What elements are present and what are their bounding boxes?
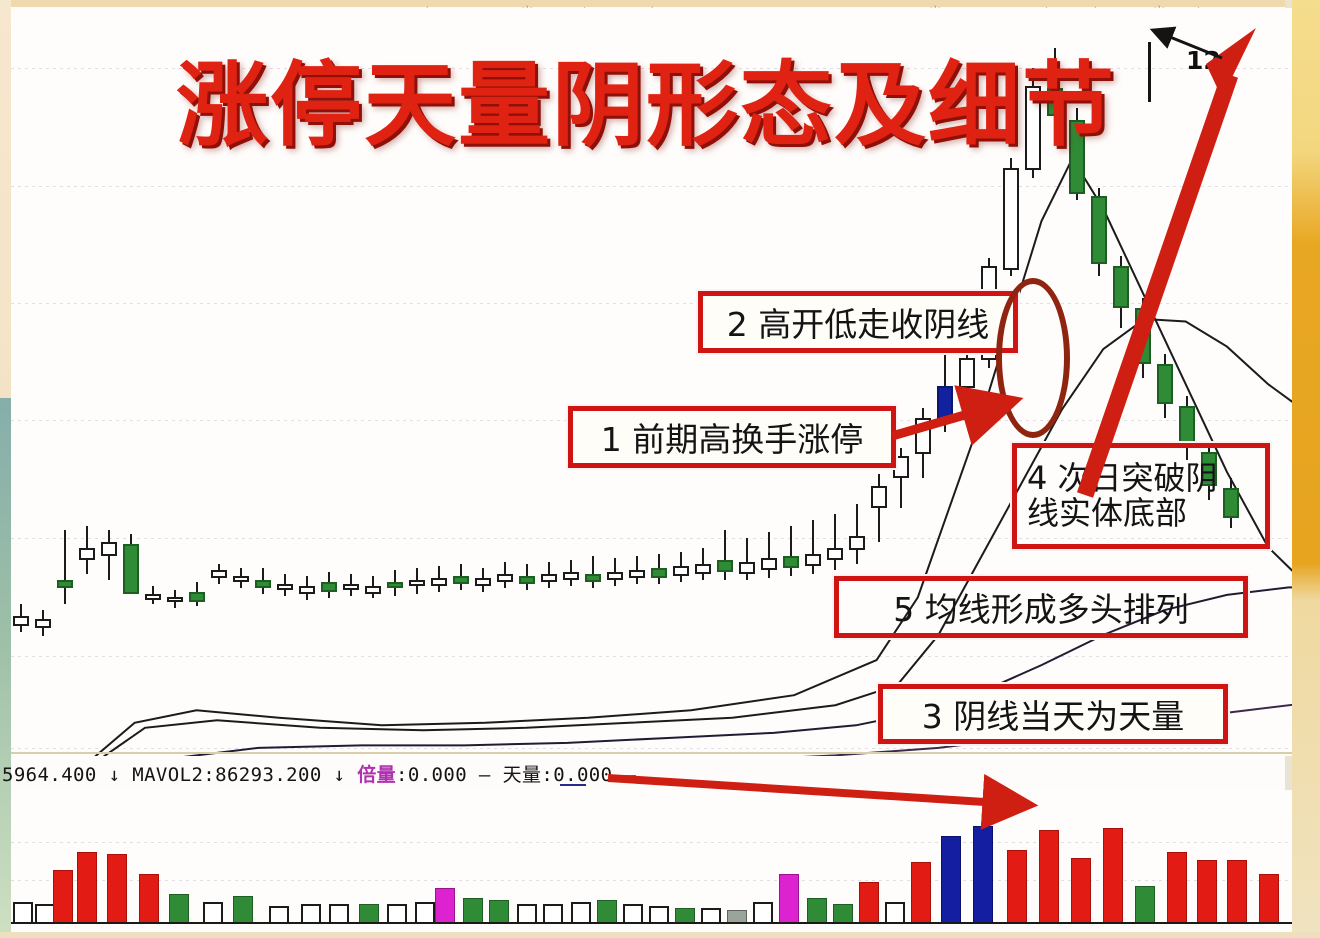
candle-body xyxy=(255,580,271,588)
candle-body xyxy=(805,554,821,566)
candle-wick xyxy=(768,532,770,578)
status-dash-1: – xyxy=(479,764,491,786)
candle-body xyxy=(585,574,601,582)
page-border-left-top xyxy=(0,0,11,398)
candle-body xyxy=(409,580,425,586)
volume-bar xyxy=(169,894,189,924)
status-tianliang-label: 天量 xyxy=(503,764,542,786)
volume-bar xyxy=(489,900,509,924)
annotation-box-1[interactable]: 1 前期高换手涨停 xyxy=(568,406,896,468)
volume-bar xyxy=(1259,874,1279,924)
candle-body xyxy=(871,486,887,508)
candlestick xyxy=(79,8,95,756)
candlestick xyxy=(1157,8,1173,756)
candle-body xyxy=(673,566,689,576)
candle-body xyxy=(607,572,623,580)
status-arrow-down-2-icon: ↓ xyxy=(334,764,346,786)
volume-bar xyxy=(807,898,827,924)
volume-bar xyxy=(1197,860,1217,924)
status-arrow-down-1-icon: ↓ xyxy=(109,764,121,786)
candle-body xyxy=(761,558,777,570)
candle-body xyxy=(343,584,359,590)
candle-body xyxy=(123,544,139,594)
volume-bar xyxy=(859,882,879,924)
candle-body xyxy=(299,586,315,594)
price-axis-label: 124 xyxy=(1186,46,1238,75)
volume-bar xyxy=(13,902,33,924)
candle-body xyxy=(79,548,95,560)
volume-bar xyxy=(885,902,905,924)
candle-body xyxy=(321,582,337,592)
candle-body xyxy=(1003,168,1019,270)
signal-candle-highlight-ellipse xyxy=(996,278,1070,438)
volume-bar xyxy=(543,904,563,924)
candle-body xyxy=(167,597,183,602)
status-beiliang-value: :0.000 xyxy=(396,764,467,786)
candle-body xyxy=(277,584,293,590)
status-mavol2: MAVOL2:86293.200 xyxy=(132,764,321,786)
volume-baseline xyxy=(11,922,1292,924)
volume-bar xyxy=(753,902,773,924)
volume-bar xyxy=(415,902,435,924)
candle-body xyxy=(717,560,733,572)
volume-bar xyxy=(359,904,379,924)
candle-body xyxy=(519,576,535,584)
candle-body xyxy=(35,619,51,628)
volume-bar xyxy=(623,904,643,924)
volume-bar xyxy=(571,902,591,924)
candle-wick xyxy=(592,556,594,588)
volume-bar xyxy=(1167,852,1187,924)
candle-body xyxy=(563,572,579,580)
candle-body xyxy=(1179,406,1195,448)
volume-bar xyxy=(233,896,253,924)
candlestick xyxy=(1223,8,1239,756)
gridline xyxy=(11,880,1292,881)
volume-bar xyxy=(1135,886,1155,924)
candle-body xyxy=(57,580,73,588)
candlestick xyxy=(1179,8,1195,756)
price-axis-tick xyxy=(1148,42,1151,102)
candle-body xyxy=(189,592,205,602)
volume-bar xyxy=(463,898,483,924)
status-beiliang-label: 倍量 xyxy=(357,764,396,786)
volume-bar xyxy=(833,904,853,924)
stock-chart-screenshot: ✦✳◈✦✳◈✦✳◈ 124 5964.400 ↓ MAVOL2:86293.20… xyxy=(0,0,1320,938)
candle-wick xyxy=(724,530,726,580)
indicator-status-bar: 5964.400 ↓ MAVOL2:86293.200 ↓ 倍量:0.000 –… xyxy=(2,760,636,786)
candle-body xyxy=(431,578,447,586)
candle-wick xyxy=(790,526,792,576)
candlestick xyxy=(57,8,73,756)
annotation-box-2[interactable]: 2 高开低走收阴线 xyxy=(698,291,1018,353)
candlestick xyxy=(101,8,117,756)
candle-body xyxy=(1135,308,1151,364)
candle-body xyxy=(1113,266,1129,308)
candle-body xyxy=(211,570,227,578)
volume-bar xyxy=(139,874,159,924)
candle-body xyxy=(783,556,799,568)
annotation-box-4-line2: 线实体底部 xyxy=(1027,496,1187,531)
candle-body xyxy=(233,576,249,582)
page-title: 涨停天量阴形态及细节 xyxy=(176,52,1076,162)
status-value: 5964.400 xyxy=(2,764,97,786)
volume-bar xyxy=(911,862,931,924)
annotation-box-4-line1: 4 次日突破阴 xyxy=(1027,461,1218,496)
volume-bar xyxy=(517,904,537,924)
annotation-box-3[interactable]: 3 阴线当天为天量 xyxy=(878,684,1228,744)
candle-body xyxy=(13,616,29,626)
candle-body xyxy=(365,586,381,594)
candle-body xyxy=(651,568,667,578)
candle-body xyxy=(959,358,975,388)
status-tianliang-value: :0.000 xyxy=(541,764,612,786)
volume-bar xyxy=(1227,860,1247,924)
candle-body xyxy=(827,548,843,560)
candle-body xyxy=(695,564,711,574)
volume-bar xyxy=(35,904,55,924)
volume-bar xyxy=(77,852,97,924)
volume-bar xyxy=(1071,858,1091,924)
candle-wick xyxy=(834,514,836,570)
candle-body xyxy=(915,418,931,454)
panel-divider xyxy=(11,752,1292,754)
status-cursor-underline xyxy=(560,784,586,786)
volume-bar-spike xyxy=(973,826,993,924)
candle-body xyxy=(475,578,491,586)
volume-bar xyxy=(779,874,799,924)
volume-bar xyxy=(107,854,127,924)
gridline xyxy=(11,842,1292,843)
volume-bar xyxy=(301,904,321,924)
candlestick xyxy=(145,8,161,756)
page-border-bottom xyxy=(0,932,1320,938)
candlestick xyxy=(1201,8,1217,756)
candle-body xyxy=(1091,196,1107,264)
annotation-box-4[interactable]: 4 次日突破阴 线实体底部 xyxy=(1012,443,1270,549)
volume-bar xyxy=(203,902,223,924)
candle-body xyxy=(453,576,469,584)
volume-bar xyxy=(1007,850,1027,924)
status-dash-2: – xyxy=(624,764,636,786)
candle-body xyxy=(497,574,513,582)
candlestick xyxy=(123,8,139,756)
candle-body xyxy=(629,570,645,578)
candle-wick xyxy=(64,530,66,604)
volume-bar xyxy=(329,904,349,924)
candle-wick xyxy=(856,504,858,564)
candlestick xyxy=(35,8,51,756)
volume-bar xyxy=(1103,828,1123,924)
volume-bar xyxy=(1039,830,1059,924)
signal-candle-body xyxy=(937,386,953,420)
candle-body xyxy=(145,594,161,600)
candle-body xyxy=(541,574,557,582)
annotation-box-5[interactable]: 5 均线形成多头排列 xyxy=(834,576,1248,638)
page-border-right xyxy=(1292,0,1320,938)
volume-bar xyxy=(53,870,73,924)
volume-bar-spike xyxy=(941,836,961,924)
volume-bar xyxy=(597,900,617,924)
page-border-left-bottom xyxy=(0,398,11,938)
volume-bar xyxy=(387,904,407,924)
volume-bar xyxy=(435,888,455,924)
candle-body xyxy=(849,536,865,550)
candle-body xyxy=(739,562,755,574)
candle-body xyxy=(1157,364,1173,404)
candlestick xyxy=(13,8,29,756)
volume-chart-panel[interactable] xyxy=(11,790,1292,932)
candle-body xyxy=(387,582,403,588)
candle-wick xyxy=(878,474,880,542)
candlestick xyxy=(1135,8,1151,756)
candle-body xyxy=(101,542,117,556)
